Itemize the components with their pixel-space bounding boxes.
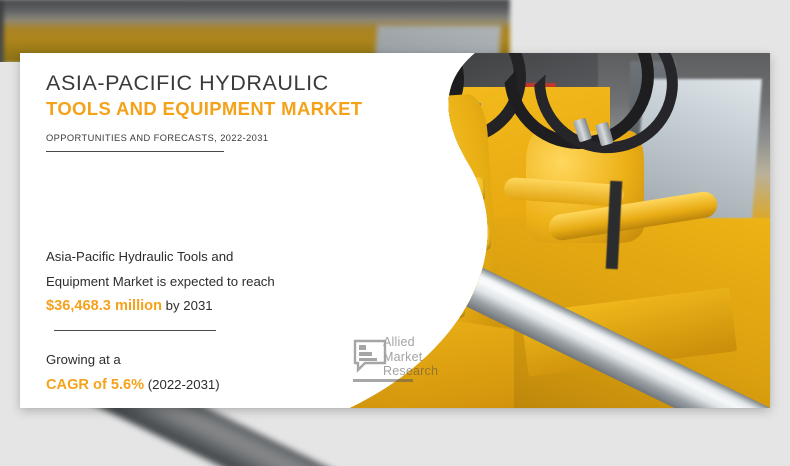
summary-line-1: Asia-Pacific Hydraulic Tools and <box>46 245 376 270</box>
section-divider <box>54 330 216 331</box>
watermark-text: Allied Market Research <box>383 335 438 379</box>
page-title-line-2: TOOLS AND EQUIPMENT MARKET <box>46 97 376 121</box>
flange-bolt <box>460 177 485 202</box>
market-value-line: $36,468.3 million by 2031 <box>46 294 376 319</box>
watermark-underline <box>353 379 413 382</box>
cagr-period: (2022-2031) <box>144 377 220 392</box>
summary-line-2: Equipment Market is expected to reach <box>46 270 376 295</box>
title-block: ASIA-PACIFIC HYDRAULIC TOOLS AND EQUIPME… <box>46 70 376 152</box>
watermark-line-1: Allied <box>383 335 438 350</box>
market-value-suffix: by 2031 <box>162 298 213 313</box>
watermark-line-3: Research <box>383 364 438 379</box>
bleed-dark-mass-top <box>0 0 4 62</box>
bleed-rod-bottom <box>0 400 377 466</box>
allied-market-research-watermark: Allied Market Research <box>353 333 479 385</box>
flange-bolt <box>436 145 461 170</box>
watermark-line-2: Market <box>383 350 438 365</box>
cylinder-hub <box>366 181 474 289</box>
text-content-column: ASIA-PACIFIC HYDRAULIC TOOLS AND EQUIPME… <box>46 53 376 408</box>
speech-bubble-chart-icon <box>353 339 387 373</box>
cagr-prefix: Growing at a <box>46 348 376 372</box>
page-subtitle: OPPORTUNITIES AND FORECASTS, 2022-2031 <box>46 133 376 143</box>
page-title-line-1: ASIA-PACIFIC HYDRAULIC <box>46 70 376 97</box>
cagr-block: Growing at a CAGR of 5.6% (2022-2031) <box>46 348 376 398</box>
market-value: $36,468.3 million <box>46 298 162 314</box>
background-photo-bottom <box>0 400 790 466</box>
market-value-block: Asia-Pacific Hydraulic Tools and Equipme… <box>46 245 376 319</box>
flange-bolt <box>402 135 427 160</box>
subtitle-divider <box>46 151 224 152</box>
flange-bolt <box>440 293 465 318</box>
cagr-value: CAGR of 5.6% <box>46 377 144 393</box>
infographic-card: Allied Market Research ASIA-PACIFIC HYDR… <box>20 53 770 408</box>
cagr-line: CAGR of 5.6% (2022-2031) <box>46 372 376 398</box>
flange-bolt <box>466 225 491 250</box>
